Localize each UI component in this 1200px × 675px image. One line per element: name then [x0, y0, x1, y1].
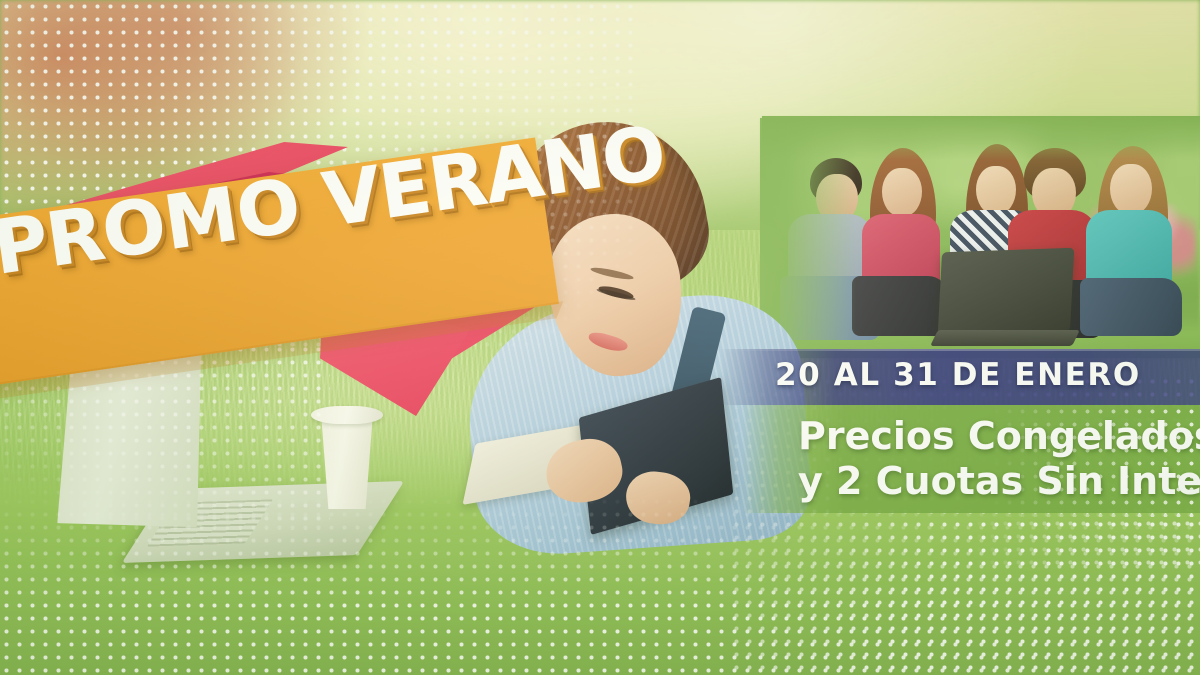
student-5	[1074, 146, 1186, 344]
coffee-cup-lid	[311, 406, 383, 424]
offer-line-1: Precios Congelados	[798, 414, 1200, 458]
student-5-head	[1110, 164, 1152, 214]
student-5-jeans	[1080, 278, 1182, 336]
date-label: 20 AL 31 DE ENERO	[775, 357, 1141, 393]
students-laptop-screen	[938, 248, 1075, 337]
offer-line-2: y 2 Cuotas Sin Interés	[798, 459, 1200, 504]
student-2-head	[882, 168, 922, 216]
promo-ribbon: PROMO VERANO	[0, 120, 590, 370]
student-2-jeans	[852, 276, 948, 336]
offer-text: Precios Congelados y 2 Cuotas Sin Interé…	[798, 414, 1200, 504]
student-2	[848, 148, 948, 344]
students-laptop-base	[930, 330, 1080, 346]
promo-banner: PROMO VERANO 20 AL 31 DE ENERO Precios C…	[0, 0, 1200, 675]
